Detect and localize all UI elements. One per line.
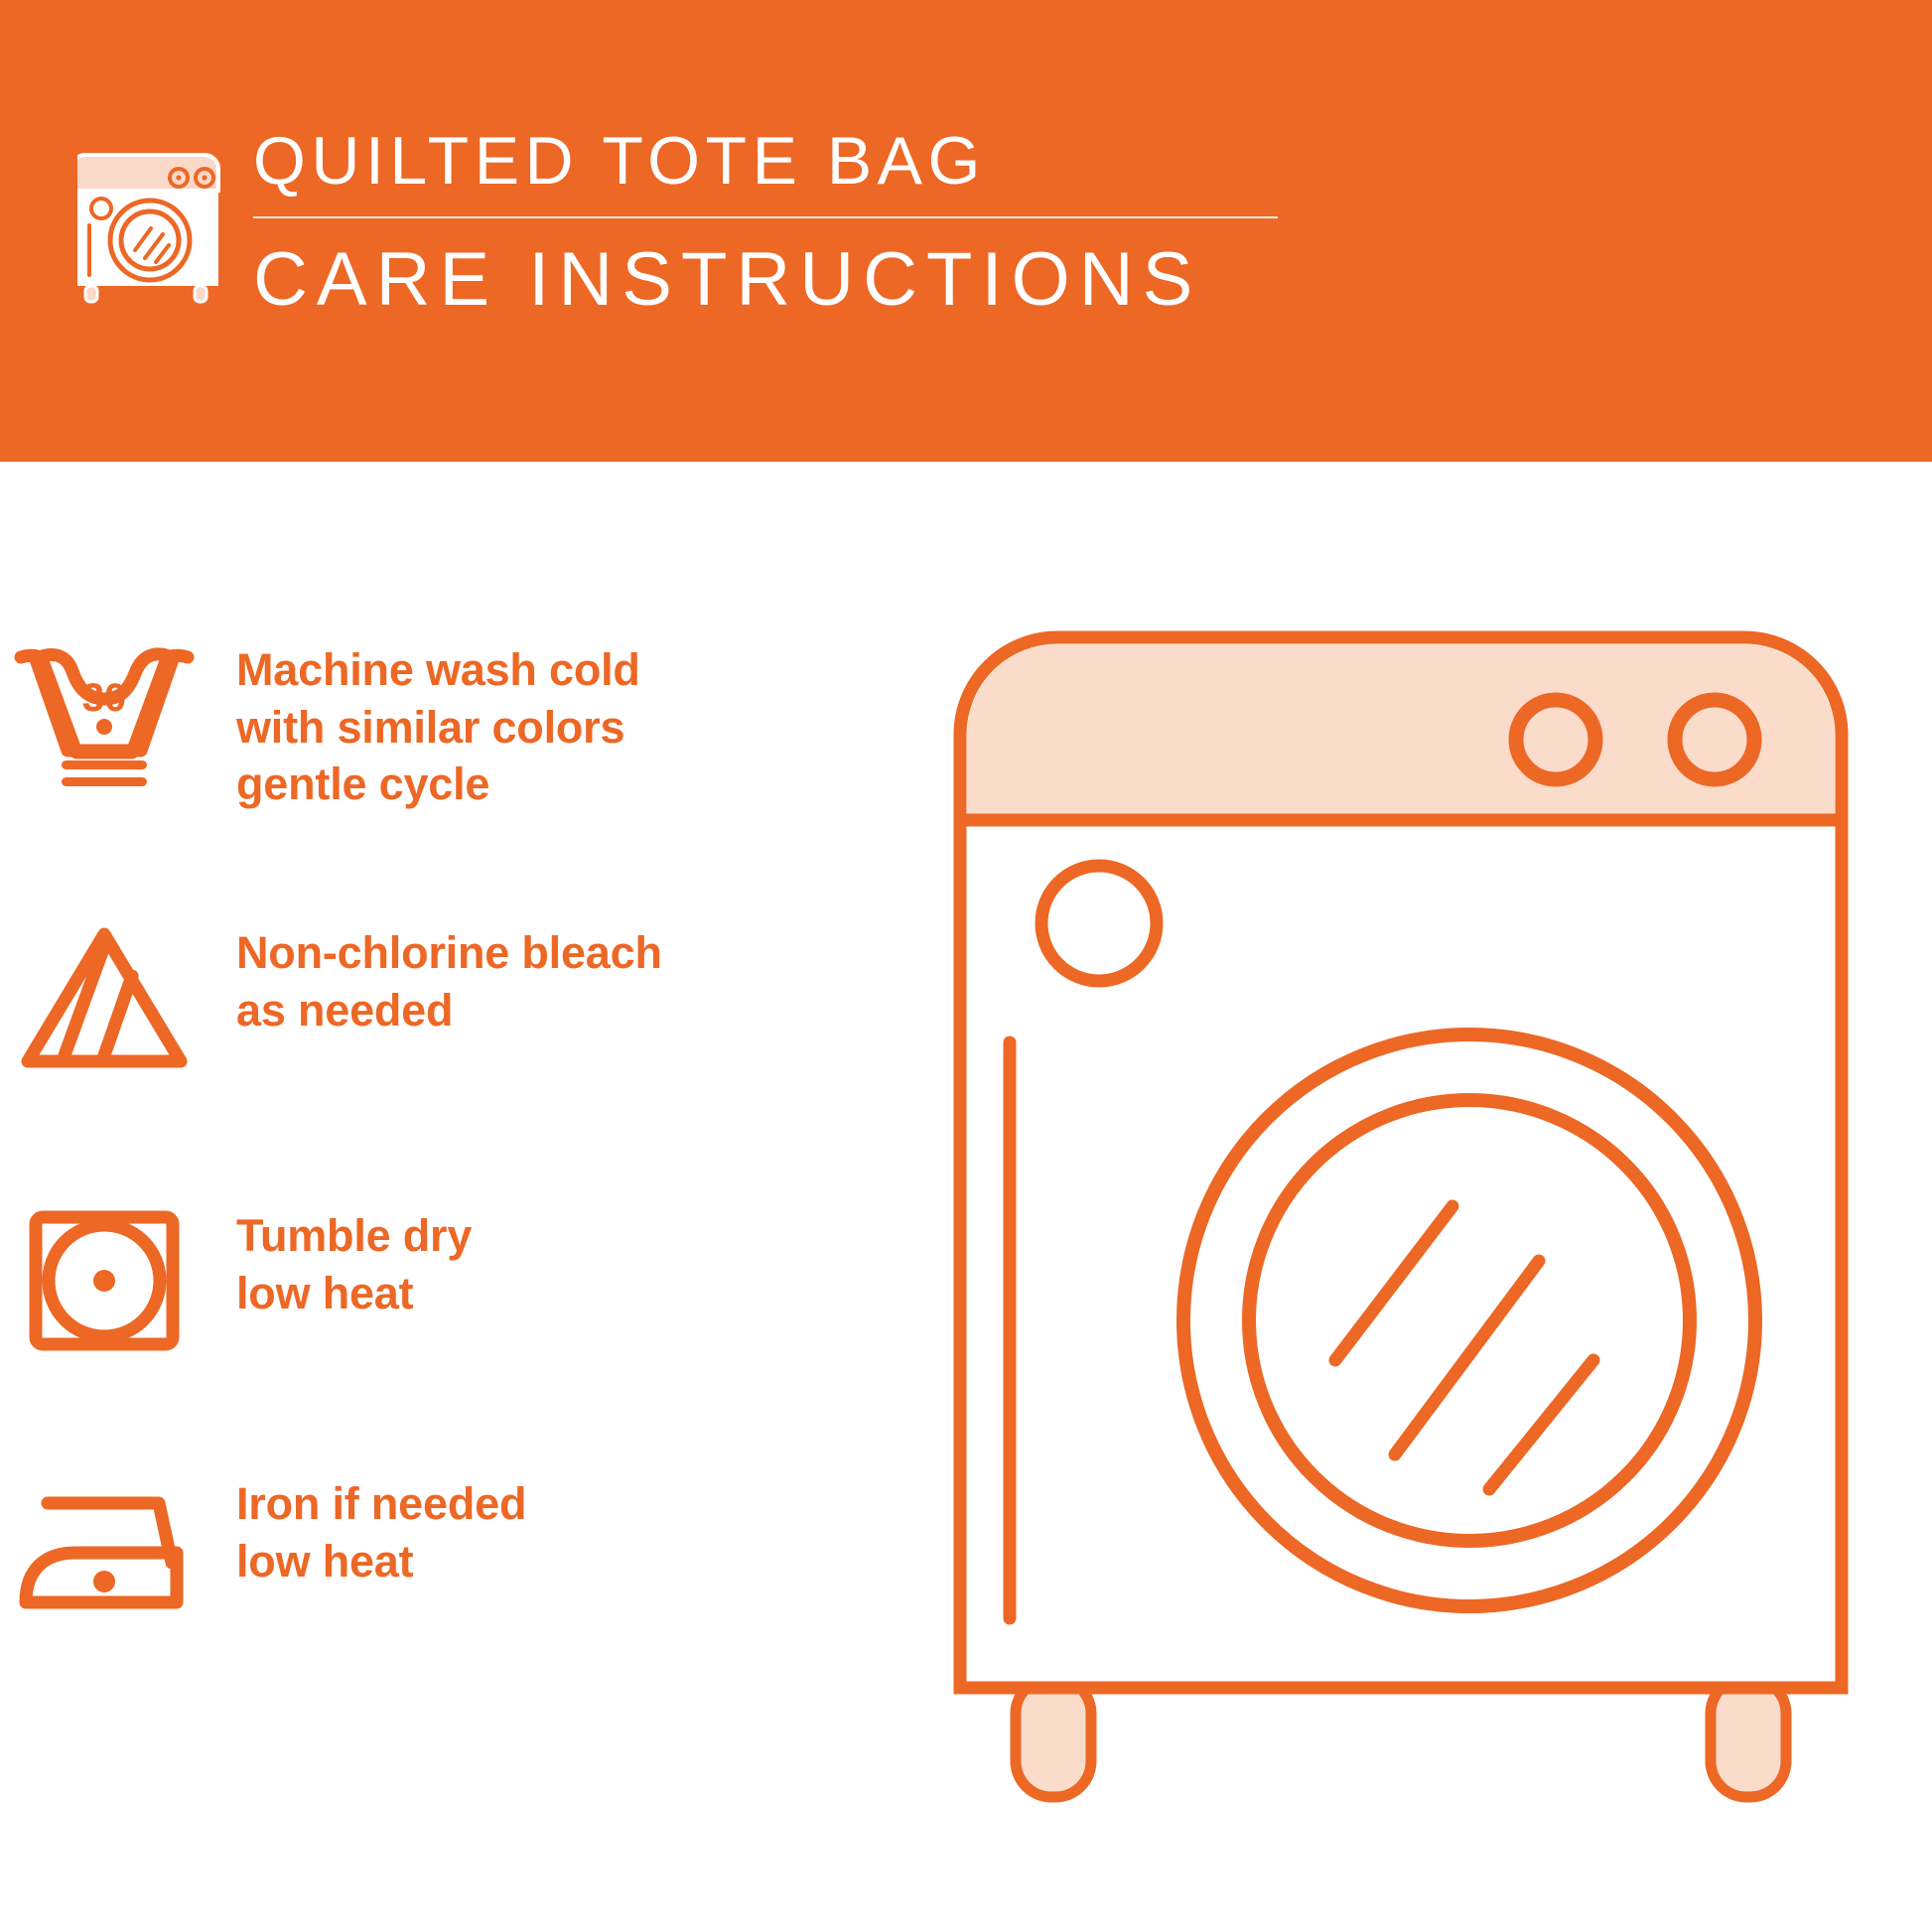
knob-right[interactable] [1675,700,1754,779]
wash-temperature-label: 30 [82,676,127,720]
header-content: QUILTED TOTE BAG CARE INSTRUCTIONS [77,127,1278,318]
iron-low-heat-icon [10,1469,199,1628]
care-label-line: low heat [236,1265,472,1322]
care-label-line: Non-chlorine bleach [236,924,662,982]
care-label-tumble-dry: Tumble dry low heat [208,1201,472,1321]
care-symbol-tumble-dry [0,1201,208,1360]
knob-left[interactable] [1516,700,1595,779]
care-item-iron: Iron if needed low heat [0,1469,973,1628]
header-title-group: QUILTED TOTE BAG CARE INSTRUCTIONS [253,127,1278,318]
care-label-line: Tumble dry [236,1207,472,1265]
washing-machine-illustration [948,625,1862,1807]
low-heat-dot [93,1270,115,1292]
care-label-line: Iron if needed [236,1475,526,1533]
gentle-dot [96,719,112,735]
page-title-secondary: CARE INSTRUCTIONS [253,218,1278,318]
care-symbol-bleach [0,918,208,1077]
header-banner: QUILTED TOTE BAG CARE INSTRUCTIONS [0,0,1932,462]
leg-right [1711,1678,1786,1797]
care-label-iron: Iron if needed low heat [208,1469,526,1589]
care-symbol-machine-wash: 30 [0,635,208,794]
leg-left [1016,1678,1091,1797]
low-heat-dot [93,1571,115,1592]
care-label-machine-wash: Machine wash cold with similar colors ge… [208,635,640,813]
care-item-bleach: Non-chlorine bleach as needed [0,918,973,1077]
care-symbol-iron [0,1469,208,1628]
washing-machine-icon [77,133,231,307]
care-label-line: Machine wash cold [236,641,640,699]
page-title-primary: QUILTED TOTE BAG [253,127,1278,216]
non-chlorine-bleach-triangle-icon [10,918,199,1077]
tumble-dry-low-heat-icon [10,1201,199,1360]
care-label-line: low heat [236,1533,526,1590]
care-label-line: with similar colors [236,699,640,757]
care-item-machine-wash: 30 Machine wash cold with similar colors… [0,635,973,813]
care-label-bleach: Non-chlorine bleach as needed [208,918,662,1038]
care-label-line: gentle cycle [236,756,640,813]
care-item-tumble-dry: Tumble dry low heat [0,1201,973,1360]
wash-basin-30-gentle-icon: 30 [10,635,199,794]
care-label-line: as needed [236,982,662,1039]
